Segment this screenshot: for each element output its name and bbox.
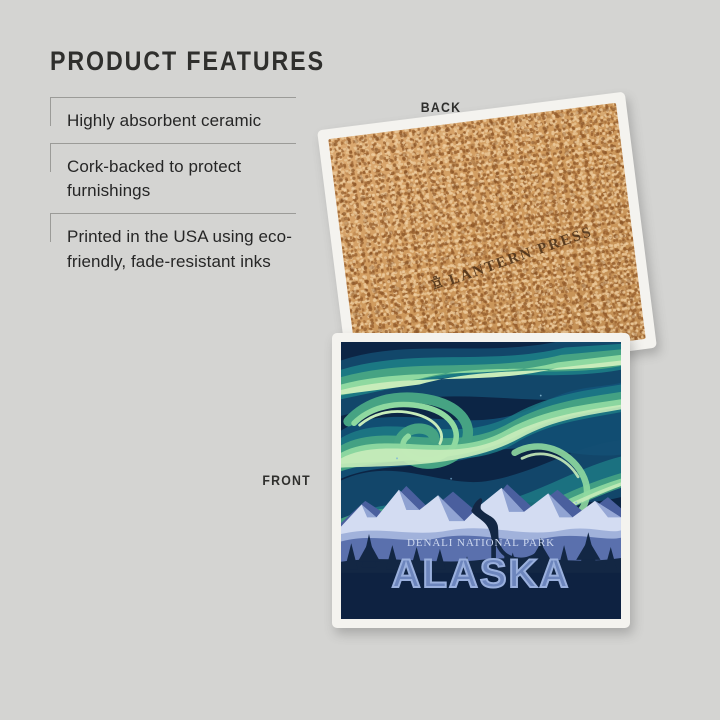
coaster-artwork: DENALI NATIONAL PARK ALASKA [341,342,621,619]
lantern-icon [428,274,447,297]
label-front: FRONT [262,472,311,488]
aurora-scene-illustration [341,342,621,619]
list-item: Cork-backed to protect furnishings [50,143,296,213]
coaster-front: DENALI NATIONAL PARK ALASKA [332,333,630,628]
feature-text: Printed in the USA using eco-friendly, f… [67,225,296,273]
list-item: Highly absorbent ceramic [50,97,296,143]
feature-text: Cork-backed to protect furnishings [67,155,296,203]
brand-mark: LANTERN PRESS [428,222,595,297]
product-features-panel: PRODUCT FEATURES Highly absorbent cerami… [50,48,330,284]
page-title: PRODUCT FEATURES [50,48,291,75]
feature-text: Highly absorbent ceramic [67,109,296,133]
brand-text: LANTERN PRESS [447,223,595,289]
list-item: Printed in the USA using eco-friendly, f… [50,213,296,283]
